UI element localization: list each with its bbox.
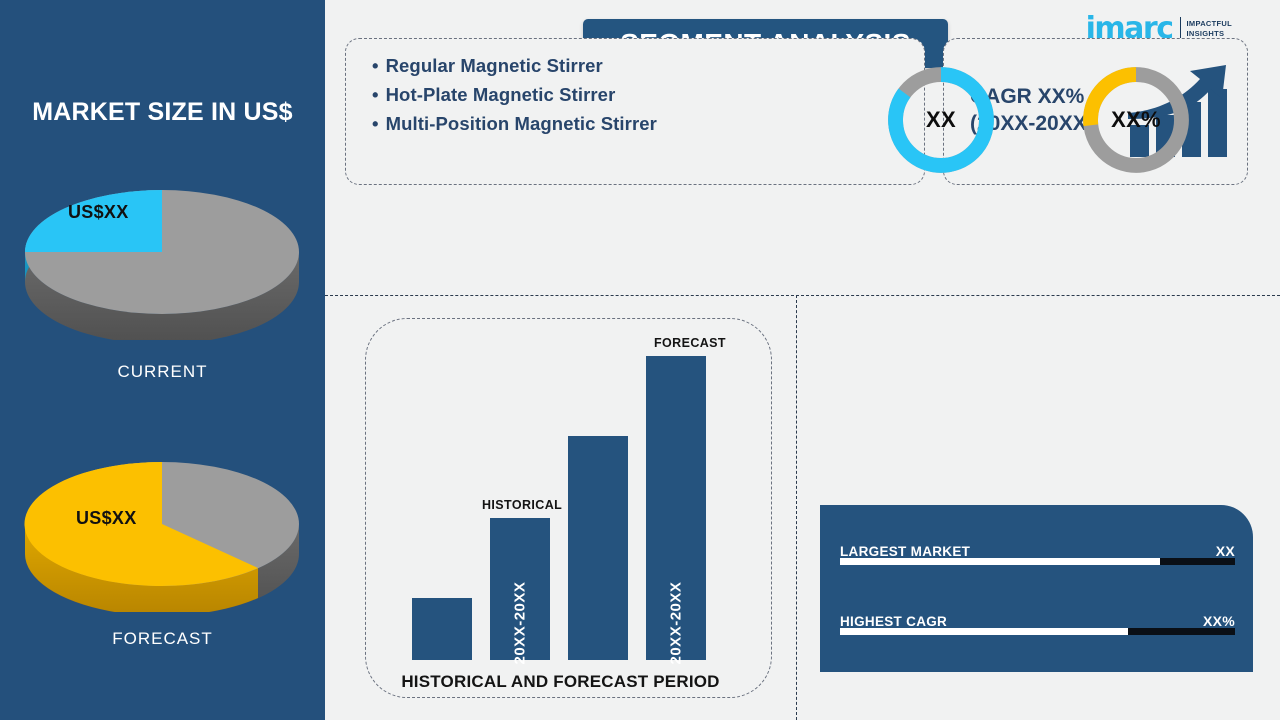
logo-tagline: IMPACTFUL INSIGHTS bbox=[1187, 19, 1232, 39]
bar-chart-plot: 20XX-20XX HISTORICAL 20XX-20XX FORECAST bbox=[366, 348, 771, 660]
historical-label: HISTORICAL bbox=[482, 498, 562, 512]
stat-row-largest-market: LARGEST MARKET XX bbox=[840, 531, 1235, 565]
bar-3 bbox=[568, 436, 628, 660]
stat-row-highest-cagr: HIGHEST CAGR XX% bbox=[840, 601, 1235, 635]
product-types-box: Regular Magnetic Stirrer Hot-Plate Magne… bbox=[345, 38, 925, 185]
market-size-title: MARKET SIZE IN US$ bbox=[0, 98, 325, 127]
donut-chart-left: XX bbox=[881, 60, 1001, 180]
forecast-pie-svg bbox=[0, 432, 325, 612]
segment-analysis-area: SEGMENT ANALYSIS imarc IMPACTFUL INSIGHT… bbox=[325, 0, 1280, 720]
vertical-divider bbox=[796, 295, 797, 720]
stat-progress-fill bbox=[840, 558, 1160, 565]
stat-label: HIGHEST CAGR bbox=[840, 614, 947, 629]
list-item: Regular Magnetic Stirrer bbox=[372, 55, 657, 77]
logo-tagline-line1: IMPACTFUL bbox=[1187, 19, 1232, 29]
forecast-pie-chart: US$XX bbox=[0, 432, 325, 612]
stat-label: LARGEST MARKET bbox=[840, 544, 970, 559]
infographic-page: MARKET SIZE IN US$ bbox=[0, 0, 1280, 720]
donut-left-value: XX bbox=[881, 60, 1001, 180]
stat-progress-fill bbox=[840, 628, 1128, 635]
bar-2: 20XX-20XX bbox=[490, 518, 550, 660]
bar-2-period-label: 20XX-20XX bbox=[512, 583, 529, 665]
key-stats-card: LARGEST MARKET XX HIGHEST CAGR XX% bbox=[820, 505, 1253, 672]
list-item: Hot-Plate Magnetic Stirrer bbox=[372, 84, 657, 106]
stat-progress-track bbox=[840, 558, 1235, 565]
market-size-panel: MARKET SIZE IN US$ bbox=[0, 0, 325, 720]
product-types-list: Regular Magnetic Stirrer Hot-Plate Magne… bbox=[372, 55, 657, 142]
stat-progress-track bbox=[840, 628, 1235, 635]
bar-chart-axis-label: HISTORICAL AND FORECAST PERIOD bbox=[325, 672, 796, 692]
forecast-label: FORECAST bbox=[654, 336, 726, 350]
bar-4-period-label: 20XX-20XX bbox=[668, 583, 685, 665]
stat-value: XX% bbox=[1203, 613, 1235, 629]
bar-4: 20XX-20XX bbox=[646, 356, 706, 660]
bar-chart-section: 20XX-20XX HISTORICAL 20XX-20XX FORECAST … bbox=[325, 295, 796, 720]
donut-right-value: XX% bbox=[1076, 60, 1196, 180]
stat-value: XX bbox=[1216, 543, 1235, 559]
donut-chart-right: XX% bbox=[1076, 60, 1196, 180]
list-item: Multi-Position Magnetic Stirrer bbox=[372, 113, 657, 135]
current-pie-svg bbox=[0, 160, 325, 340]
bar-chart-box: 20XX-20XX HISTORICAL 20XX-20XX FORECAST bbox=[365, 318, 772, 698]
current-pie-chart: US$XX bbox=[0, 160, 325, 340]
bar-1 bbox=[412, 598, 472, 660]
forecast-pie-caption: FORECAST bbox=[0, 629, 325, 649]
current-pie-caption: CURRENT bbox=[0, 362, 325, 382]
